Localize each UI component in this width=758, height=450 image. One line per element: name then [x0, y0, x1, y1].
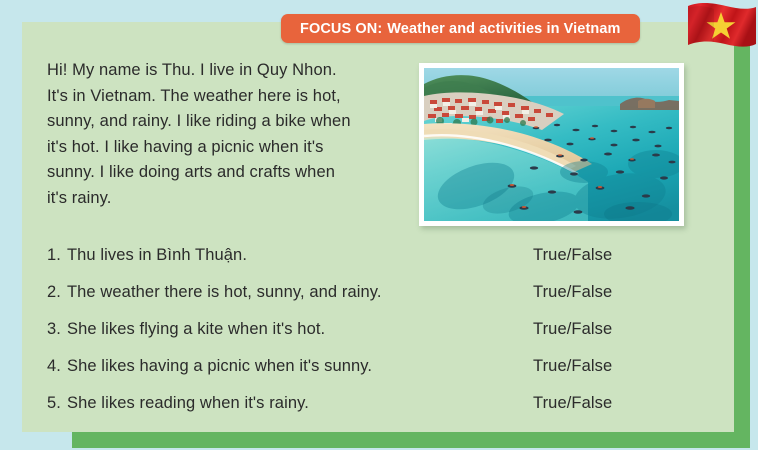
question-row: 1. Thu lives in Bình Thuận. True/False	[47, 246, 667, 283]
question-text: She likes flying a kite when it's hot.	[67, 320, 325, 339]
question-row: 5. She likes reading when it's rainy. Tr…	[47, 394, 667, 431]
passage-line: sunny, and rainy. I like riding a bike w…	[47, 109, 405, 135]
reading-passage: Hi! My name is Thu. I live in Quy Nhon. …	[47, 58, 405, 211]
vietnam-flag-icon	[684, 0, 758, 56]
focus-on-label: FOCUS ON:	[300, 21, 382, 37]
true-option[interactable]: True	[533, 283, 567, 301]
true-option[interactable]: True	[533, 357, 567, 375]
question-text: She likes having a picnic when it's sunn…	[67, 357, 372, 376]
question-number: 5.	[47, 394, 61, 413]
passage-line: sunny. I like doing arts and crafts when	[47, 160, 405, 186]
photo-frame	[419, 63, 684, 226]
false-option[interactable]: False	[571, 283, 612, 301]
true-false-answer[interactable]: True/False	[533, 357, 612, 376]
question-list: 1. Thu lives in Bình Thuận. True/False 2…	[47, 246, 667, 431]
question-row: 4. She likes having a picnic when it's s…	[47, 357, 667, 394]
question-text: Thu lives in Bình Thuận.	[67, 246, 247, 265]
question-text: She likes reading when it's rainy.	[67, 394, 309, 413]
false-option[interactable]: False	[571, 246, 612, 264]
question-number: 3.	[47, 320, 61, 339]
false-option[interactable]: False	[571, 320, 612, 338]
true-false-answer[interactable]: True/False	[533, 283, 612, 302]
true-false-answer[interactable]: True/False	[533, 320, 612, 339]
true-false-answer[interactable]: True/False	[533, 394, 612, 413]
passage-line: it's hot. I like having a picnic when it…	[47, 135, 405, 161]
true-false-answer[interactable]: True/False	[533, 246, 612, 265]
true-option[interactable]: True	[533, 394, 567, 412]
passage-line: it's rainy.	[47, 186, 405, 212]
focus-on-topic: Weather and activities in Vietnam	[387, 21, 620, 37]
true-option[interactable]: True	[533, 246, 567, 264]
passage-line: It's in Vietnam. The weather here is hot…	[47, 84, 405, 110]
question-row: 3. She likes flying a kite when it's hot…	[47, 320, 667, 357]
beach-aerial-photo	[424, 68, 679, 221]
passage-line: Hi! My name is Thu. I live in Quy Nhon.	[47, 58, 405, 84]
question-number: 1.	[47, 246, 61, 265]
question-number: 2.	[47, 283, 61, 302]
question-row: 2. The weather there is hot, sunny, and …	[47, 283, 667, 320]
focus-on-banner: FOCUS ON: Weather and activities in Viet…	[281, 14, 640, 43]
false-option[interactable]: False	[571, 357, 612, 375]
true-option[interactable]: True	[533, 320, 567, 338]
false-option[interactable]: False	[571, 394, 612, 412]
question-number: 4.	[47, 357, 61, 376]
question-text: The weather there is hot, sunny, and rai…	[67, 283, 382, 302]
